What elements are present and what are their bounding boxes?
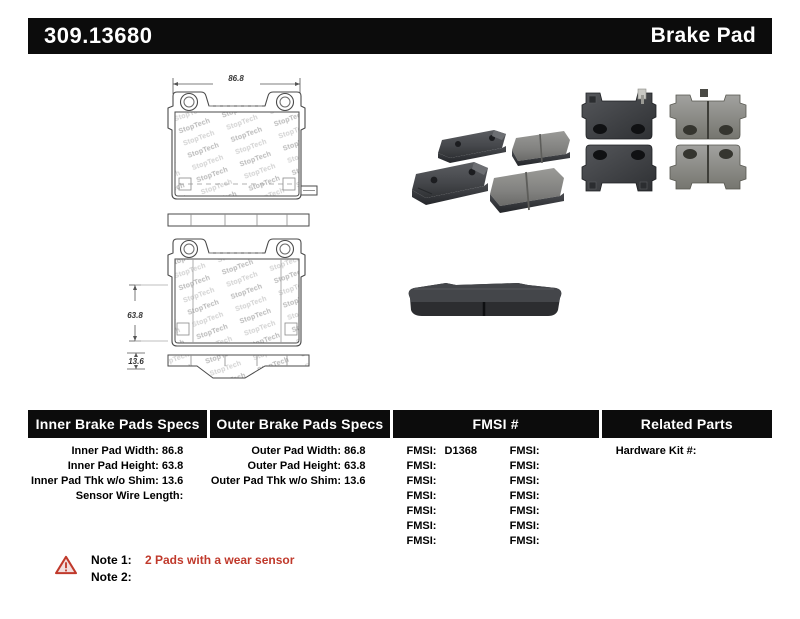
fmsi-value <box>540 490 545 502</box>
fmsi-value: D1368 <box>440 445 477 457</box>
fmsi-label: FMSI: <box>407 535 437 547</box>
fmsi-value <box>540 520 545 532</box>
fmsi-label: FMSI: <box>407 445 437 457</box>
related-part-label: Hardware Kit #: <box>616 445 697 457</box>
fmsi-label: FMSI: <box>407 505 437 517</box>
fmsi-subcolumn-left: FMSI: D1368 FMSI: FMSI: FMSI: FMSI: <box>393 444 496 549</box>
product-photo-grid-set <box>578 83 758 201</box>
notes-section: Note 1: 2 Pads with a wear sensor Note 2… <box>55 552 294 586</box>
fmsi-row: FMSI: <box>496 489 599 504</box>
spec-row: Outer Pad Height: 63.8 <box>210 459 389 474</box>
fmsi-row: FMSI: <box>393 504 496 519</box>
fmsi-value <box>436 490 441 502</box>
fmsi-label: FMSI: <box>510 535 540 547</box>
product-type-label: Brake Pad <box>651 24 756 48</box>
outer-specs-column: Outer Pad Width: 86.8 Outer Pad Height: … <box>210 444 389 549</box>
fmsi-row: FMSI: <box>496 459 599 474</box>
spec-row: Inner Pad Height: 63.8 <box>28 459 207 474</box>
note-1-label: Note 1: <box>91 552 137 569</box>
fmsi-label: FMSI: <box>510 490 540 502</box>
fmsi-column: FMSI: D1368 FMSI: FMSI: FMSI: FMSI: <box>393 444 599 549</box>
product-photo-angled-set <box>398 100 573 230</box>
pad-backing-bottom-left <box>582 145 656 191</box>
specs-table: Inner Brake Pads Specs Outer Brake Pads … <box>28 410 772 549</box>
fmsi-subcolumn-right: FMSI: FMSI: FMSI: FMSI: FMSI: <box>496 444 599 549</box>
spec-label: Inner Pad Width: <box>71 445 158 457</box>
fmsi-value <box>540 475 545 487</box>
fmsi-row: FMSI: D1368 <box>393 444 496 459</box>
related-part-row: Hardware Kit #: <box>602 444 772 459</box>
fmsi-row: FMSI: <box>393 459 496 474</box>
column-header-fmsi: FMSI # <box>393 410 599 438</box>
fmsi-row: FMSI: <box>496 519 599 534</box>
spec-label: Inner Pad Height: <box>68 460 159 472</box>
fmsi-value <box>436 460 441 472</box>
spec-label: Inner Pad Thk w/o Shim: <box>31 475 159 487</box>
column-header-outer-specs: Outer Brake Pads Specs <box>210 410 389 438</box>
pad-front-drawing-top: 86.8 <box>105 66 345 231</box>
fmsi-label: FMSI: <box>510 445 540 457</box>
drawings-area: StopTech StopTech <box>0 58 800 388</box>
spec-label: Outer Pad Width: <box>251 445 341 457</box>
fmsi-value <box>436 535 441 547</box>
fmsi-row: FMSI: <box>393 474 496 489</box>
fmsi-label: FMSI: <box>510 520 540 532</box>
fmsi-label: FMSI: <box>407 475 437 487</box>
fmsi-label: FMSI: <box>510 460 540 472</box>
spec-label: Sensor Wire Length: <box>76 490 183 502</box>
specs-table-header-row: Inner Brake Pads Specs Outer Brake Pads … <box>28 410 772 438</box>
column-header-related-parts: Related Parts <box>602 410 772 438</box>
fmsi-row: FMSI: <box>496 444 599 459</box>
spec-value: 63.8 <box>162 460 183 472</box>
fmsi-label: FMSI: <box>510 475 540 487</box>
fmsi-label: FMSI: <box>407 520 437 532</box>
fmsi-value <box>436 520 441 532</box>
note-1: Note 1: 2 Pads with a wear sensor <box>91 552 294 569</box>
fmsi-row: FMSI: <box>496 504 599 519</box>
note-lines: Note 1: 2 Pads with a wear sensor Note 2… <box>91 552 294 586</box>
pad-backing-top-left <box>582 89 656 139</box>
part-number: 309.13680 <box>44 23 153 49</box>
spec-row: Outer Pad Thk w/o Shim: 13.6 <box>210 474 389 489</box>
spec-label: Outer Pad Height: <box>248 460 342 472</box>
spec-row: Inner Pad Thk w/o Shim: 13.6 <box>28 474 207 489</box>
pad-friction-bottom-right <box>670 145 746 189</box>
specs-table-body: Inner Pad Width: 86.8 Inner Pad Height: … <box>28 438 772 549</box>
spec-row: Inner Pad Width: 86.8 <box>28 444 207 459</box>
inner-specs-column: Inner Pad Width: 86.8 Inner Pad Height: … <box>28 444 207 549</box>
width-dimension-label: 86.8 <box>228 74 244 83</box>
spec-value: 13.6 <box>344 475 365 487</box>
fmsi-value <box>436 475 441 487</box>
fmsi-label: FMSI: <box>510 505 540 517</box>
warning-triangle-icon <box>55 555 77 575</box>
fmsi-row: FMSI: <box>496 534 599 549</box>
fmsi-row: FMSI: <box>393 534 496 549</box>
note-2-label: Note 2: <box>91 569 137 586</box>
fmsi-label: FMSI: <box>407 460 437 472</box>
fmsi-value <box>540 445 545 457</box>
spec-value: 13.6 <box>162 475 183 487</box>
fmsi-label: FMSI: <box>407 490 437 502</box>
height-dimension-label: 63.8 <box>127 311 143 320</box>
fmsi-row: FMSI: <box>496 474 599 489</box>
header-bar: 309.13680 Brake Pad <box>28 18 772 54</box>
fmsi-value <box>436 505 441 517</box>
fmsi-value <box>540 505 545 517</box>
product-photo-edge-profile <box>400 268 570 330</box>
thickness-dimension-label: 13.6 <box>128 357 144 366</box>
spec-value: 86.8 <box>344 445 365 457</box>
spec-value: 63.8 <box>344 460 365 472</box>
spec-value: 86.8 <box>162 445 183 457</box>
related-parts-column: Hardware Kit #: <box>602 444 772 549</box>
pad-front-drawing-bottom: 63.8 13.6 <box>105 223 345 383</box>
fmsi-value <box>540 460 545 472</box>
spec-row: Outer Pad Width: 86.8 <box>210 444 389 459</box>
fmsi-row: FMSI: <box>393 519 496 534</box>
fmsi-row: FMSI: <box>393 489 496 504</box>
note-1-text: 2 Pads with a wear sensor <box>145 552 294 569</box>
note-2: Note 2: <box>91 569 294 586</box>
pad-friction-top-right <box>670 89 746 139</box>
spec-label: Outer Pad Thk w/o Shim: <box>211 475 341 487</box>
column-header-inner-specs: Inner Brake Pads Specs <box>28 410 207 438</box>
fmsi-value <box>540 535 545 547</box>
spec-row: Sensor Wire Length: <box>28 489 207 504</box>
